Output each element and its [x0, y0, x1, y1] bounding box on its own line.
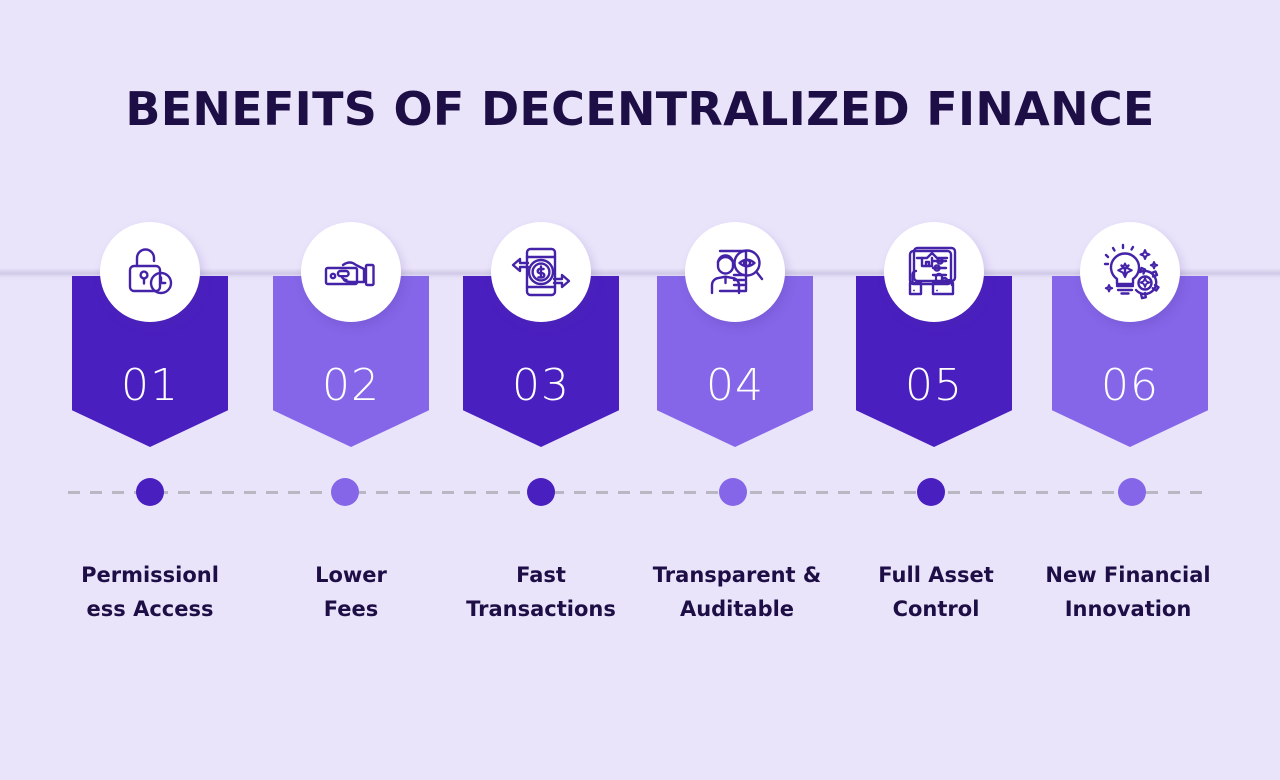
label-line-1: Transparent &: [632, 558, 842, 592]
pennant-number: 06: [1052, 360, 1208, 411]
benefit-label-04: Transparent & Auditable: [632, 558, 842, 626]
benefit-item-03[interactable]: 03: [443, 0, 639, 780]
label-line-2: Control: [831, 592, 1041, 626]
benefit-item-05[interactable]: 05: [836, 0, 1032, 780]
benefit-label-02: Lower Fees: [246, 558, 456, 626]
benefit-label-06: New Financial Innovation: [1023, 558, 1233, 626]
mobile-money-transfer-icon: [491, 222, 591, 322]
unlock-clock-icon: [100, 222, 200, 322]
timeline-dot-02[interactable]: [331, 478, 359, 506]
label-line-1: Lower: [246, 558, 456, 592]
pennant-number: 05: [856, 360, 1012, 411]
hand-cash-icon: [301, 222, 401, 322]
label-line-2: Innovation: [1023, 592, 1233, 626]
benefit-label-01: Permissionl ess Access: [45, 558, 255, 626]
label-line-1: Permissionl: [45, 558, 255, 592]
timeline-dot-01[interactable]: [136, 478, 164, 506]
pennant-number: 04: [657, 360, 813, 411]
timeline-dot-05[interactable]: [917, 478, 945, 506]
timeline-dot-06[interactable]: [1118, 478, 1146, 506]
timeline-dot-03[interactable]: [527, 478, 555, 506]
benefit-item-02[interactable]: 02: [253, 0, 449, 780]
pennant-number: 01: [72, 360, 228, 411]
pennant-number: 03: [463, 360, 619, 411]
person-document-magnifier-eye-icon: [685, 222, 785, 322]
timeline-dashed-line: [68, 491, 1208, 494]
label-line-1: Full Asset: [831, 558, 1041, 592]
label-line-1: Fast: [436, 558, 646, 592]
benefit-label-05: Full Asset Control: [831, 558, 1041, 626]
benefit-item-01[interactable]: 01: [52, 0, 248, 780]
label-line-2: Transactions: [436, 592, 646, 626]
label-line-2: Fees: [246, 592, 456, 626]
label-line-1: New Financial: [1023, 558, 1233, 592]
label-line-2: Auditable: [632, 592, 842, 626]
label-line-2: ess Access: [45, 592, 255, 626]
benefit-item-04[interactable]: 04: [637, 0, 833, 780]
benefit-banner-row: 01 02: [0, 0, 1280, 780]
pennant-number: 02: [273, 360, 429, 411]
lightbulb-gear-sparkle-icon: [1080, 222, 1180, 322]
hands-tablet-controls-icon: [884, 222, 984, 322]
infographic-canvas: BENEFITS OF DECENTRALIZED FINANCE 01: [0, 0, 1280, 780]
benefit-item-06[interactable]: 06: [1032, 0, 1228, 780]
benefit-label-03: Fast Transactions: [436, 558, 646, 626]
timeline-dot-04[interactable]: [719, 478, 747, 506]
